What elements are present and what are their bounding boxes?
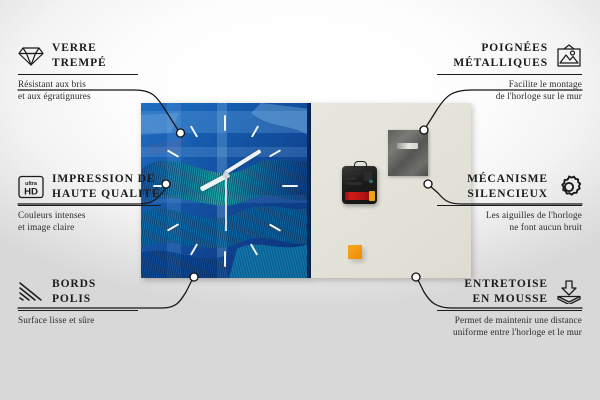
feature-divider	[18, 205, 161, 206]
hanger-slot	[397, 143, 418, 149]
clock-front-panel	[141, 103, 311, 278]
feature-heading: MÉCANISME SILENCIEUX	[437, 172, 582, 201]
feature-divider	[437, 205, 582, 206]
feature-sub-line1: Facilite le montage	[437, 79, 582, 91]
feature-sub-line1: Surface lisse et sûre	[18, 315, 138, 327]
svg-text:HD: HD	[24, 186, 38, 197]
feature-polished-edges[interactable]: BORDS POLIS Surface lisse et sûre	[18, 277, 138, 327]
feature-divider	[437, 310, 582, 311]
feature-sub-line1: Couleurs intenses	[18, 210, 161, 222]
feature-hd-print[interactable]: ultra HD IMPRESSION DE HAUTE QUALITÉ Cou…	[18, 172, 161, 233]
feature-sub-line1: Les aiguilles de l'horloge	[437, 210, 582, 222]
feature-sub-line2: et image claire	[18, 222, 161, 234]
feature-title-line2: MÉTALLIQUES	[453, 56, 548, 71]
feature-sub-line2: ne font aucun bruit	[437, 222, 582, 234]
clock-second-hand	[225, 175, 227, 231]
feature-title-line1: BORDS	[52, 277, 96, 292]
polished-edges-icon	[18, 281, 44, 303]
infographic-canvas: VERRE TREMPÉ Résistant aux bris et aux é…	[0, 0, 600, 400]
hanging-frame-icon	[556, 44, 582, 68]
feature-sub-line2: de l'horloge sur le mur	[437, 91, 582, 103]
feature-divider	[18, 74, 138, 75]
feature-sub-line2: et aux égratignures	[18, 91, 138, 103]
feature-sub-line1: Résistant aux bris	[18, 79, 138, 91]
feature-title-line1: IMPRESSION DE	[52, 172, 161, 187]
foam-spacer-arrow-icon	[556, 280, 582, 304]
foam-spacer-pad	[348, 245, 362, 259]
feature-title-line1: ENTRETOISE	[464, 277, 548, 292]
feature-metal-handles[interactable]: POIGNÉES MÉTALLIQUES Facilite le montage…	[437, 41, 582, 102]
feature-sub-line2: uniforme entre l'horloge et le mur	[437, 327, 582, 339]
feature-heading: POIGNÉES MÉTALLIQUES	[437, 41, 582, 70]
feature-title-line2: POLIS	[52, 292, 96, 307]
metal-hanger-plate	[388, 130, 428, 176]
feature-title-line2: TREMPÉ	[52, 56, 107, 71]
feature-heading: BORDS POLIS	[18, 277, 138, 306]
feature-foam-spacer[interactable]: ENTRETOISE EN MOUSSE Permet de maintenir…	[437, 277, 582, 338]
feature-title-line1: MÉCANISME	[467, 172, 548, 187]
movement-detail	[346, 177, 356, 180]
diamond-icon	[18, 45, 44, 67]
battery-plus-terminal	[369, 191, 375, 201]
feature-silent-mechanism[interactable]: MÉCANISME SILENCIEUX Les aiguilles de l'…	[437, 172, 582, 233]
clock-movement-box	[342, 166, 377, 204]
gear-icon	[556, 174, 582, 200]
ultra-hd-icon: ultra HD	[18, 175, 44, 199]
movement-hook	[354, 161, 367, 169]
feature-heading: ENTRETOISE EN MOUSSE	[437, 277, 582, 306]
feature-title-line2: HAUTE QUALITÉ	[52, 187, 161, 202]
movement-detail	[346, 172, 360, 175]
battery	[345, 192, 372, 200]
feature-title-line1: POIGNÉES	[453, 41, 548, 56]
feature-title-line2: EN MOUSSE	[464, 292, 548, 307]
feature-tempered-glass[interactable]: VERRE TREMPÉ Résistant aux bris et aux é…	[18, 41, 138, 102]
movement-led	[369, 180, 373, 183]
movement-detail	[346, 182, 362, 185]
feature-divider	[18, 310, 138, 311]
feature-sub-line1: Permet de maintenir une distance	[437, 315, 582, 327]
feature-divider	[437, 74, 582, 75]
product-photo	[141, 103, 471, 278]
feature-title-line2: SILENCIEUX	[467, 187, 548, 202]
clock-center-cap	[223, 172, 228, 177]
feature-heading: VERRE TREMPÉ	[18, 41, 138, 70]
feature-heading: ultra HD IMPRESSION DE HAUTE QUALITÉ	[18, 172, 161, 201]
feature-title-line1: VERRE	[52, 41, 107, 56]
